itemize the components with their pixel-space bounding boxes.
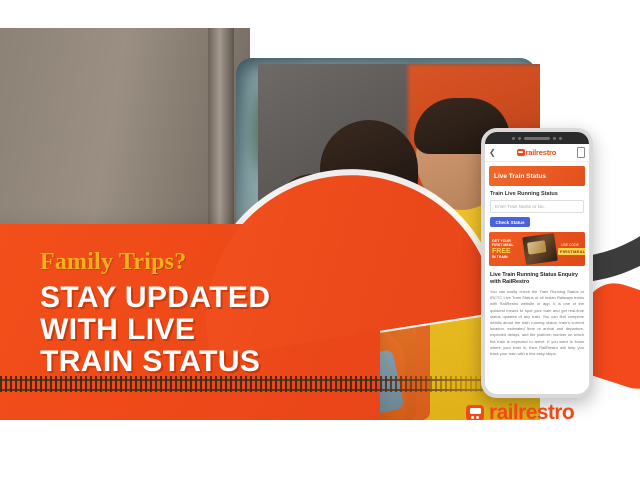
promo-text: GET YOUR FIRST MEAL FREE IN TRAIN <box>492 239 522 259</box>
promo-line-2: FIRST MEAL <box>492 243 514 247</box>
railrestro-mark-icon <box>517 149 525 156</box>
app-logo: railrestro <box>499 148 574 157</box>
promo-card[interactable]: GET YOUR FIRST MEAL FREE IN TRAIN USE CO… <box>489 232 585 266</box>
sensor-icon <box>518 137 521 140</box>
train-search-input[interactable]: Enter Train Name or No. <box>490 200 584 213</box>
promo-big-text: FREE <box>492 248 522 255</box>
headline-block: Family Trips? STAY UPDATED WITH LIVE TRA… <box>40 250 370 377</box>
promo-line-1: GET YOUR <box>492 239 511 243</box>
rail-ties <box>0 376 560 392</box>
camera-icon <box>512 137 515 140</box>
railrestro-logo-icon <box>466 405 484 421</box>
section-label: Train Live Running Status <box>490 191 584 197</box>
hero-banner: Live Train Status <box>489 166 585 186</box>
hero-title: Live Train Status <box>489 173 546 180</box>
artwork-canvas: Family Trips? STAY UPDATED WITH LIVE TRA… <box>0 28 640 420</box>
train-search-placeholder: Enter Train Name or No. <box>491 204 545 209</box>
headline-line-1: STAY UPDATED <box>40 282 370 314</box>
chevron-left-icon[interactable]: ❮ <box>489 149 496 157</box>
phone-mockup: ❮ railrestro Live Train Status Train Liv… <box>481 128 593 398</box>
check-status-label: Check Status <box>495 220 524 225</box>
sensor-icon <box>553 137 556 140</box>
app-logo-text: railrestro <box>526 148 557 157</box>
footer-brand-text: railrestro <box>489 402 574 420</box>
footer-logo: railrestro <box>466 402 574 420</box>
railway-track <box>0 376 560 392</box>
article-heading: Live Train Running Status Enquiry with R… <box>490 272 584 286</box>
page-title: STAY UPDATED WITH LIVE TRAIN STATUS <box>40 282 370 377</box>
article-body: You can easily check the Train Running S… <box>490 289 584 357</box>
headline-line-2: WITH LIVE <box>40 314 370 346</box>
headline-line-3: TRAIN STATUS <box>40 346 370 378</box>
phone-notch <box>485 132 589 144</box>
promo-offer: USE CODE FIRSTMEAL <box>558 243 582 256</box>
promo-code: FIRSTMEAL <box>558 248 585 255</box>
promo-line-3: IN TRAIN <box>492 255 508 259</box>
check-status-button[interactable]: Check Status <box>490 217 530 227</box>
promo-food-image <box>522 233 558 265</box>
speaker-icon <box>524 137 550 140</box>
mobile-icon[interactable] <box>577 147 585 158</box>
sensor-icon <box>559 137 562 140</box>
promo-offer-note: USE CODE <box>561 243 579 247</box>
promo-banner: Family Trips? STAY UPDATED WITH LIVE TRA… <box>0 0 640 480</box>
phone-screen: ❮ railrestro Live Train Status Train Liv… <box>485 144 589 390</box>
app-header: ❮ railrestro <box>485 144 589 162</box>
kicker-text: Family Trips? <box>40 250 370 274</box>
